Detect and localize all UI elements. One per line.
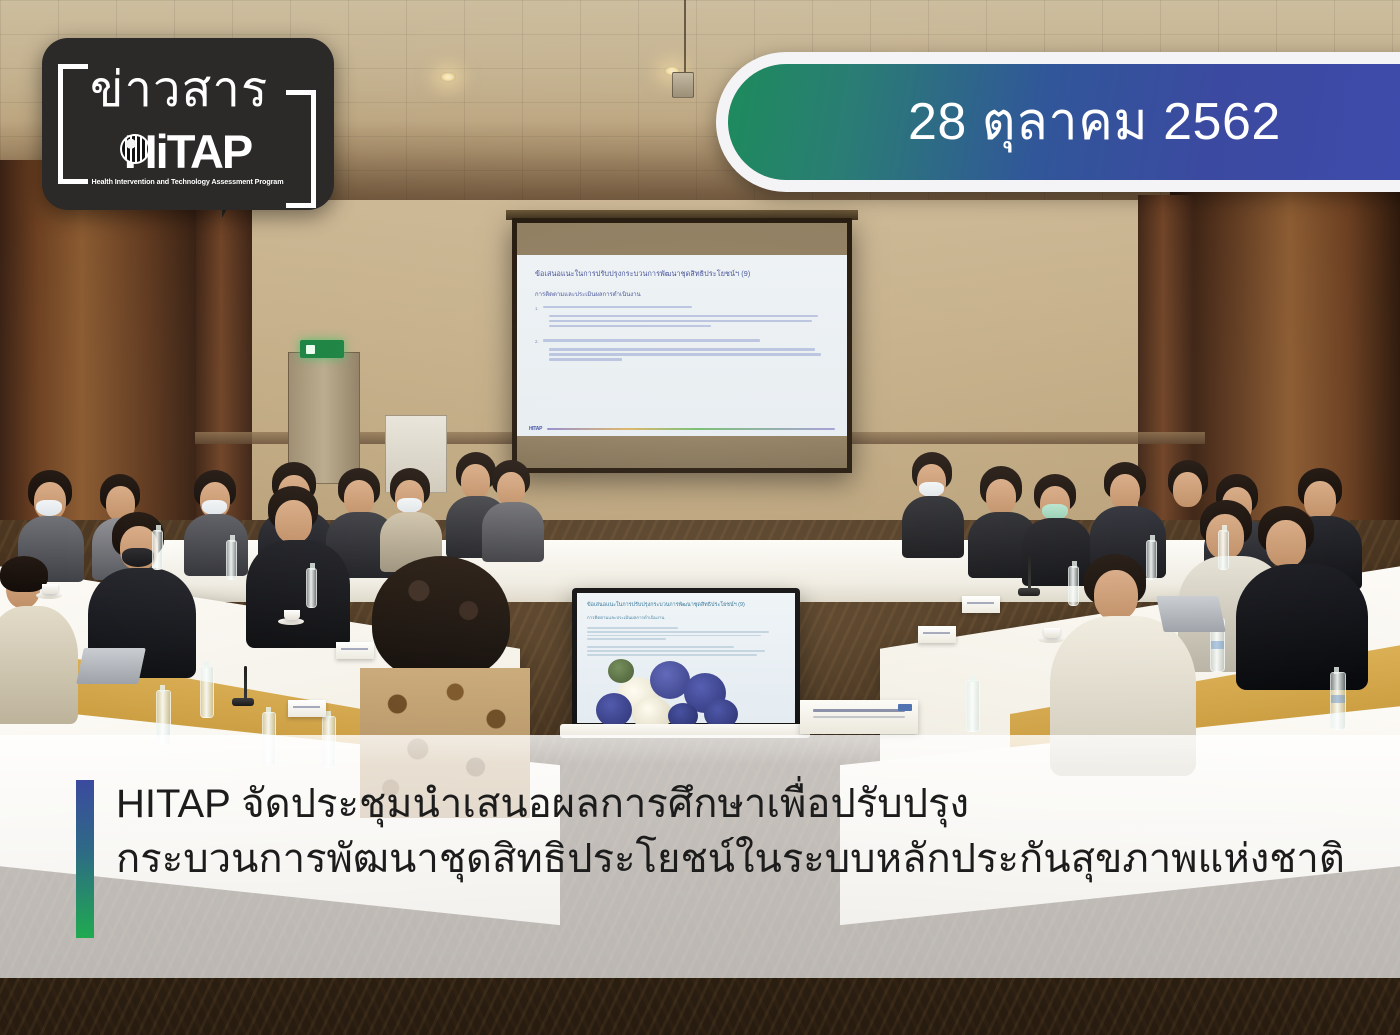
slide-text-line	[549, 358, 622, 360]
water-bottle	[152, 530, 163, 570]
globe-icon	[120, 134, 150, 164]
downlight	[440, 72, 456, 82]
water-bottle	[226, 540, 237, 580]
slide-bullet: 1.	[535, 306, 829, 311]
hitap-news-badge: ข่าวสาร HiTAP Health Intervention and Te…	[42, 38, 334, 210]
laptop	[1156, 596, 1226, 632]
slide-subtitle: การติดตามและประเมินผลการดำเนินงาน	[535, 289, 829, 299]
slide-bullet-number: 2.	[535, 339, 539, 344]
slide-content: ข้อเสนอแนะในการปรับปรุงกระบวนการพัฒนาชุด…	[517, 255, 847, 436]
water-bottle	[200, 666, 214, 718]
coffee-cup	[42, 584, 58, 594]
caption-block: HITAP จัดประชุมนำเสนอผลการศึกษาเพื่อปรับ…	[76, 780, 1376, 940]
laptop	[76, 648, 146, 684]
coffee-cup	[1044, 628, 1060, 638]
slide-text-line	[549, 325, 711, 327]
microphone-base	[1018, 588, 1040, 596]
date-badge: 28 ตุลาคม 2562	[716, 52, 1400, 192]
tv-slide-subtitle: การติดตามและประเมินผลการดำเนินงาน	[587, 614, 785, 621]
projector-screen: ข้อเสนอแนะในการปรับปรุงกระบวนการพัฒนาชุด…	[512, 218, 852, 473]
water-bottle	[1146, 540, 1157, 580]
tv-slide-title: ข้อเสนอแนะในการปรับปรุงกระบวนการพัฒนาชุด…	[587, 601, 785, 609]
speaker-name-plate	[800, 700, 918, 734]
bracket-left-icon	[58, 64, 88, 184]
name-card	[962, 596, 1000, 613]
name-card	[288, 700, 326, 717]
slide-bullet: 2.	[535, 339, 829, 344]
name-card	[336, 642, 374, 659]
water-bottle	[1218, 530, 1229, 570]
slide-bullet-number: 1.	[535, 306, 539, 311]
coffee-cup	[284, 610, 300, 620]
water-bottle	[1068, 566, 1079, 606]
slide-text-line	[549, 348, 815, 350]
slide-title: ข้อเสนอแนะในการปรับปรุงกระบวนการพัฒนาชุด…	[535, 269, 829, 280]
slide-text-line	[543, 339, 761, 341]
water-bottle	[1330, 672, 1346, 730]
slide-footer-logo: HITAP	[529, 426, 542, 432]
name-card	[918, 626, 956, 643]
slide-text-line	[543, 306, 692, 308]
slide-footer: HITAP	[517, 426, 847, 432]
news-poster: ข้อเสนอแนะในการปรับปรุงกระบวนการพัฒนาชุด…	[0, 0, 1400, 1035]
caption-line-2: กระบวนการพัฒนาชุดสิทธิประโยชน์ในระบบหลัก…	[116, 835, 1345, 884]
slide-text-line	[549, 320, 812, 322]
badge-thai-label: ข่าวสาร	[90, 66, 268, 115]
microphone-base	[232, 698, 254, 706]
microphone	[1028, 556, 1031, 590]
slide-text-line	[549, 353, 821, 355]
left-wood-wall	[0, 160, 205, 580]
bracket-right-icon	[286, 90, 316, 208]
caption-accent-bar	[76, 780, 94, 938]
slide-paragraph	[535, 348, 829, 360]
projector-cable	[684, 0, 686, 74]
date-text: 28 ตุลาคม 2562	[908, 96, 1281, 148]
water-bottle	[306, 568, 317, 608]
slide-footer-bar	[547, 428, 835, 431]
caption-line-1: HITAP จัดประชุมนำเสนอผลการศึกษาเพื่อปรับ…	[116, 780, 1345, 829]
projector-mount	[672, 72, 694, 98]
microphone	[244, 666, 247, 700]
slide-text-line	[549, 315, 818, 317]
slide-paragraph	[535, 315, 829, 327]
emergency-exit-sign	[300, 340, 344, 358]
water-bottle	[966, 680, 980, 732]
flower-arrangement	[592, 655, 752, 731]
